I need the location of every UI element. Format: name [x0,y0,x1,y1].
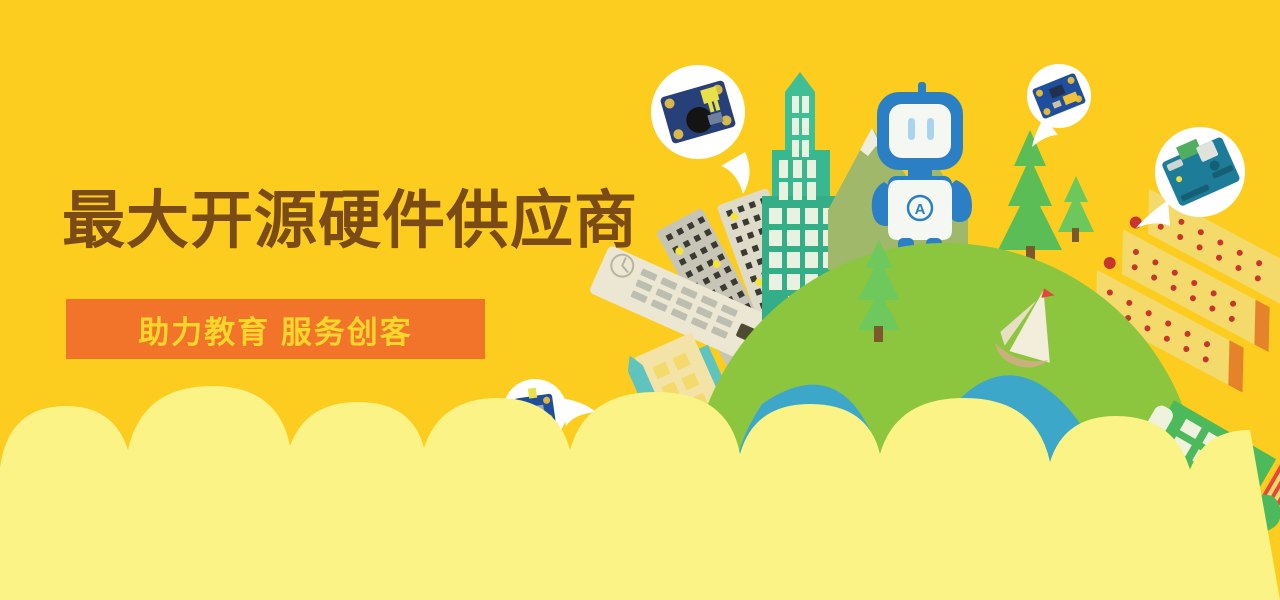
tagline-text: 助力教育 服务创客 [66,299,485,359]
robot-eye-left [908,118,915,140]
robot-eye-right [927,118,934,140]
promo-banner: A [0,0,1280,600]
copy-block: 最大开源硬件供应商 助力教育 服务创客 [0,0,660,600]
svg-text:A: A [915,201,926,218]
page-title: 最大开源硬件供应商 [62,186,638,256]
tagline-band: 助力教育 服务创客 [66,299,485,359]
